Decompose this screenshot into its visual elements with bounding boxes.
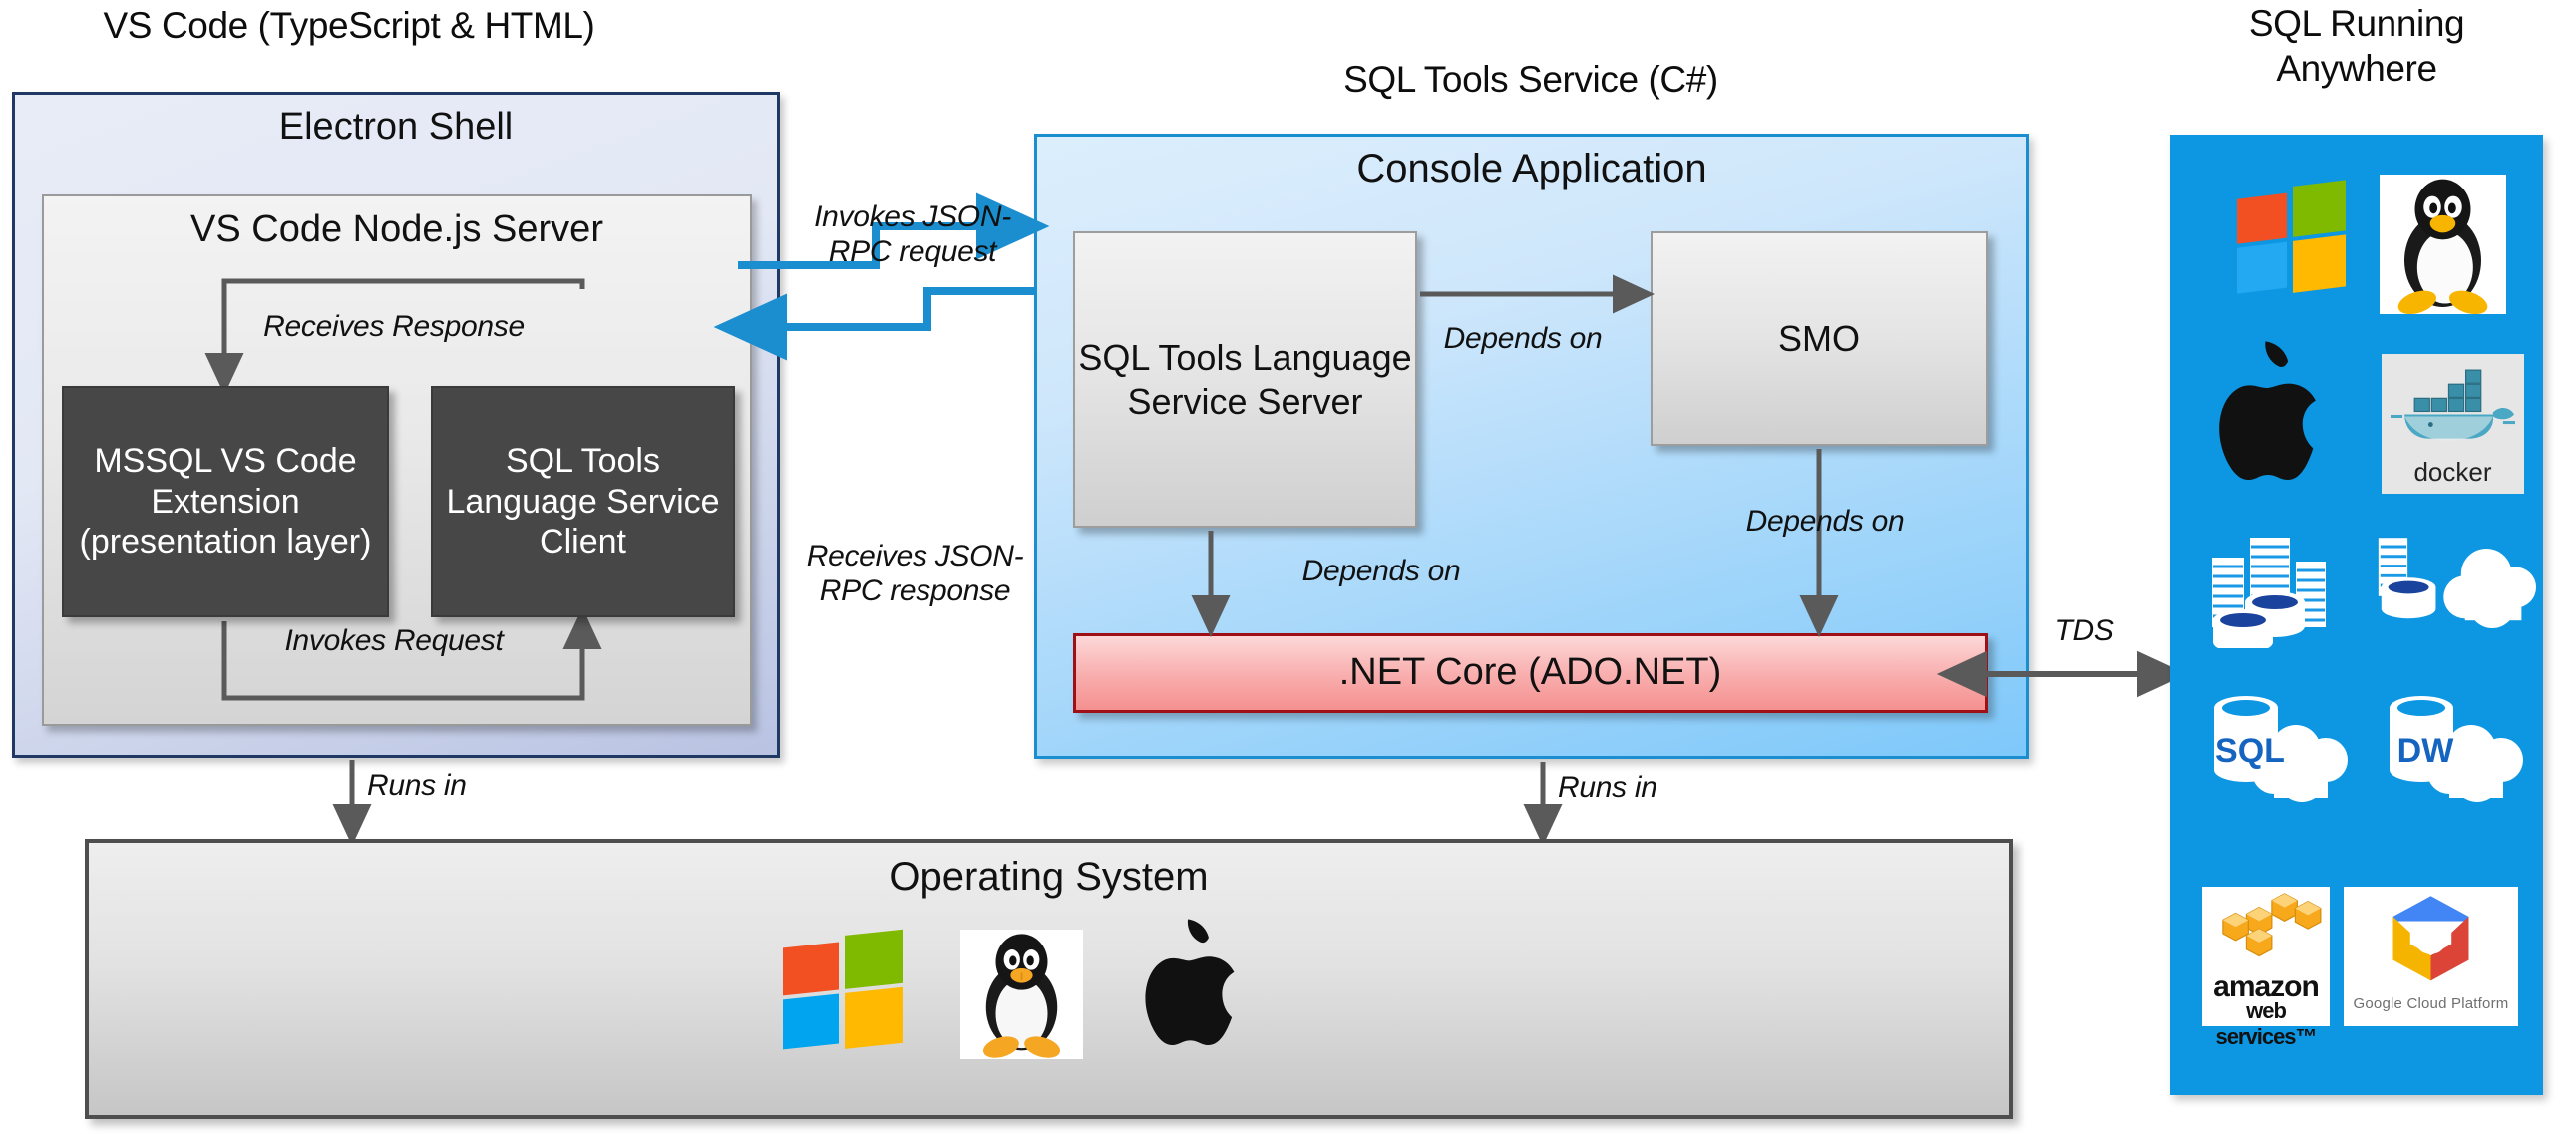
apple-logo-icon — [1137, 918, 1253, 1057]
edge-label-invokes-jsonrpc-request: Invokes JSON- RPC request — [788, 199, 1037, 270]
azure-sql-data-warehouse-icon: DW — [2374, 686, 2533, 814]
heading-vscode: VS Code (TypeScript & HTML) — [10, 4, 688, 48]
edge-label-tds: TDS — [2024, 613, 2144, 648]
box-mssql-vscode-extension[interactable]: MSSQL VS Code Extension (presentation la… — [62, 386, 389, 617]
box-mssql-vscode-extension-label: MSSQL VS Code Extension (presentation la… — [64, 441, 387, 563]
windows-logo-icon — [2237, 180, 2347, 297]
azure-sql-database-label: SQL — [2170, 732, 2330, 771]
electron-shell-title: Electron Shell — [12, 105, 780, 151]
google-cloud-platform-logo-icon: Google Cloud Platform — [2344, 887, 2518, 1026]
edge-label-service-runs-in: Runs in — [1558, 770, 1737, 805]
console-application-title: Console Application — [1034, 145, 2029, 192]
heading-sql-running-anywhere-line2: Anywhere — [2170, 47, 2543, 91]
azure-sql-database-icon: SQL — [2198, 686, 2358, 814]
box-sql-tools-language-service-client-label: SQL Tools Language Service Client — [433, 441, 733, 563]
edge-label-receives-jsonrpc-response-line2: RPC response — [788, 573, 1042, 608]
sql-server-on-premises-icon — [2202, 519, 2354, 648]
edge-label-server-depends-on-smo-line1: Depends on — [1428, 321, 1618, 356]
edge-label-receives-jsonrpc-response-line1: Receives JSON- — [788, 539, 1042, 573]
docker-logo-label: docker — [2382, 457, 2524, 488]
box-dotnet-core-ado-net[interactable]: .NET Core (ADO.NET) — [1073, 633, 1988, 713]
docker-logo-icon: docker — [2382, 354, 2524, 494]
edge-label-receives-response: Receives Response — [194, 309, 593, 344]
architecture-diagram: VS Code (TypeScript & HTML) SQL Tools Se… — [0, 0, 2576, 1134]
edge-label-invokes-request: Invokes Request — [194, 623, 593, 658]
edge-label-invokes-jsonrpc-request-line2: RPC request — [788, 234, 1037, 269]
box-sql-tools-language-service-server-label: SQL Tools Language Service Server — [1075, 336, 1415, 422]
vscode-nodejs-server-title: VS Code Node.js Server — [42, 207, 752, 253]
edge-label-invokes-jsonrpc-request-line1: Invokes JSON- — [788, 199, 1037, 234]
box-smo[interactable]: SMO — [1651, 231, 1988, 446]
amazon-web-services-logo-icon: amazon web services™ — [2202, 887, 2330, 1026]
box-smo-label: SMO — [1778, 317, 1860, 360]
edge-label-receives-jsonrpc-response: Receives JSON- RPC response — [788, 539, 1042, 609]
heading-sql-tools-service: SQL Tools Service (C#) — [997, 58, 2064, 102]
apple-logo-icon — [2210, 341, 2336, 493]
box-sql-tools-language-service-client[interactable]: SQL Tools Language Service Client — [431, 386, 735, 617]
aws-label-line2: web services™ — [2202, 998, 2330, 1050]
edge-label-server-depends-on-dotnet: Depends on — [1252, 554, 1511, 588]
sql-server-vm-cloud-icon — [2372, 526, 2537, 650]
linux-tux-icon — [2380, 175, 2506, 314]
gcp-label: Google Cloud Platform — [2344, 995, 2518, 1012]
windows-logo-icon — [783, 930, 905, 1052]
heading-sql-running-anywhere-line1: SQL Running — [2170, 2, 2543, 46]
linux-tux-icon — [960, 930, 1083, 1059]
edge-label-server-depends-on-smo: Depends on — [1428, 321, 1618, 356]
edge-label-smo-depends-on-dotnet: Depends on — [1695, 504, 1955, 539]
box-dotnet-core-ado-net-label: .NET Core (ADO.NET) — [1339, 650, 1722, 696]
operating-system-title: Operating System — [85, 853, 2013, 901]
edge-label-vscode-runs-in: Runs in — [367, 768, 547, 803]
box-sql-tools-language-service-server[interactable]: SQL Tools Language Service Server — [1073, 231, 1417, 528]
azure-sql-data-warehouse-label: DW — [2346, 732, 2505, 771]
